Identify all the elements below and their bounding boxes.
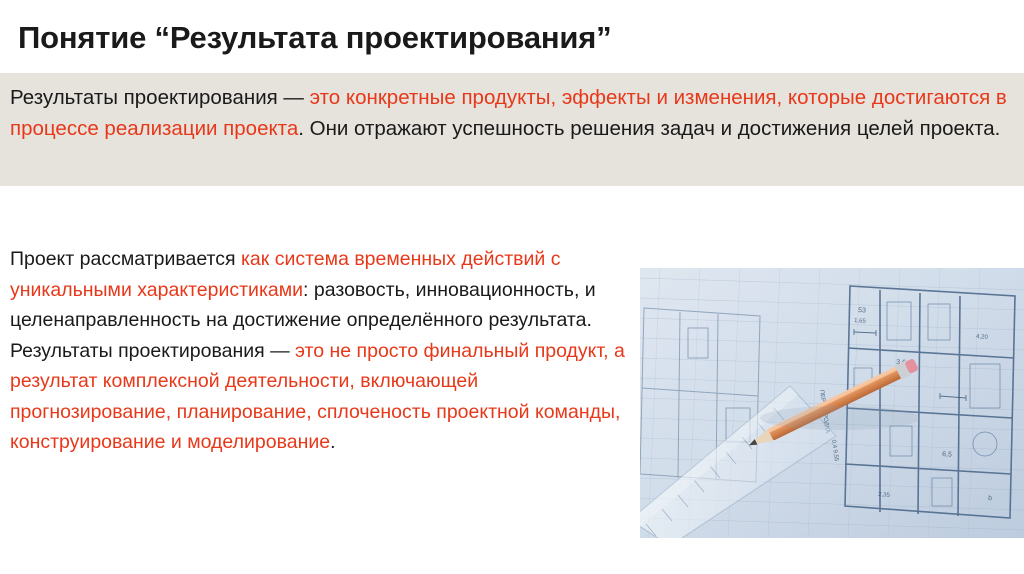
callout-text-part1: Результаты проектирования — [10,86,310,109]
footer-strip [0,538,1024,574]
slide: Понятие “Результата проектирования” Резу… [0,0,1024,574]
callout-text-part3: . Они отражают успешность решения задач … [298,117,1000,140]
body-text-part1: Проект рассматривается [10,248,241,270]
page-title: Понятие “Результата проектирования” [18,20,938,56]
blueprint-photo: 53 1,65 3,6 4,20 6,5 2,35 b ПЕРЕГОРОДКА … [640,268,1024,538]
body-text: Проект рассматривается как система време… [10,244,630,458]
blueprint-illustration: 53 1,65 3,6 4,20 6,5 2,35 b ПЕРЕГОРОДКА … [640,268,1024,538]
body-text-part5: . [330,431,335,453]
callout-text: Результаты проектирования — это конкретн… [10,82,1010,144]
